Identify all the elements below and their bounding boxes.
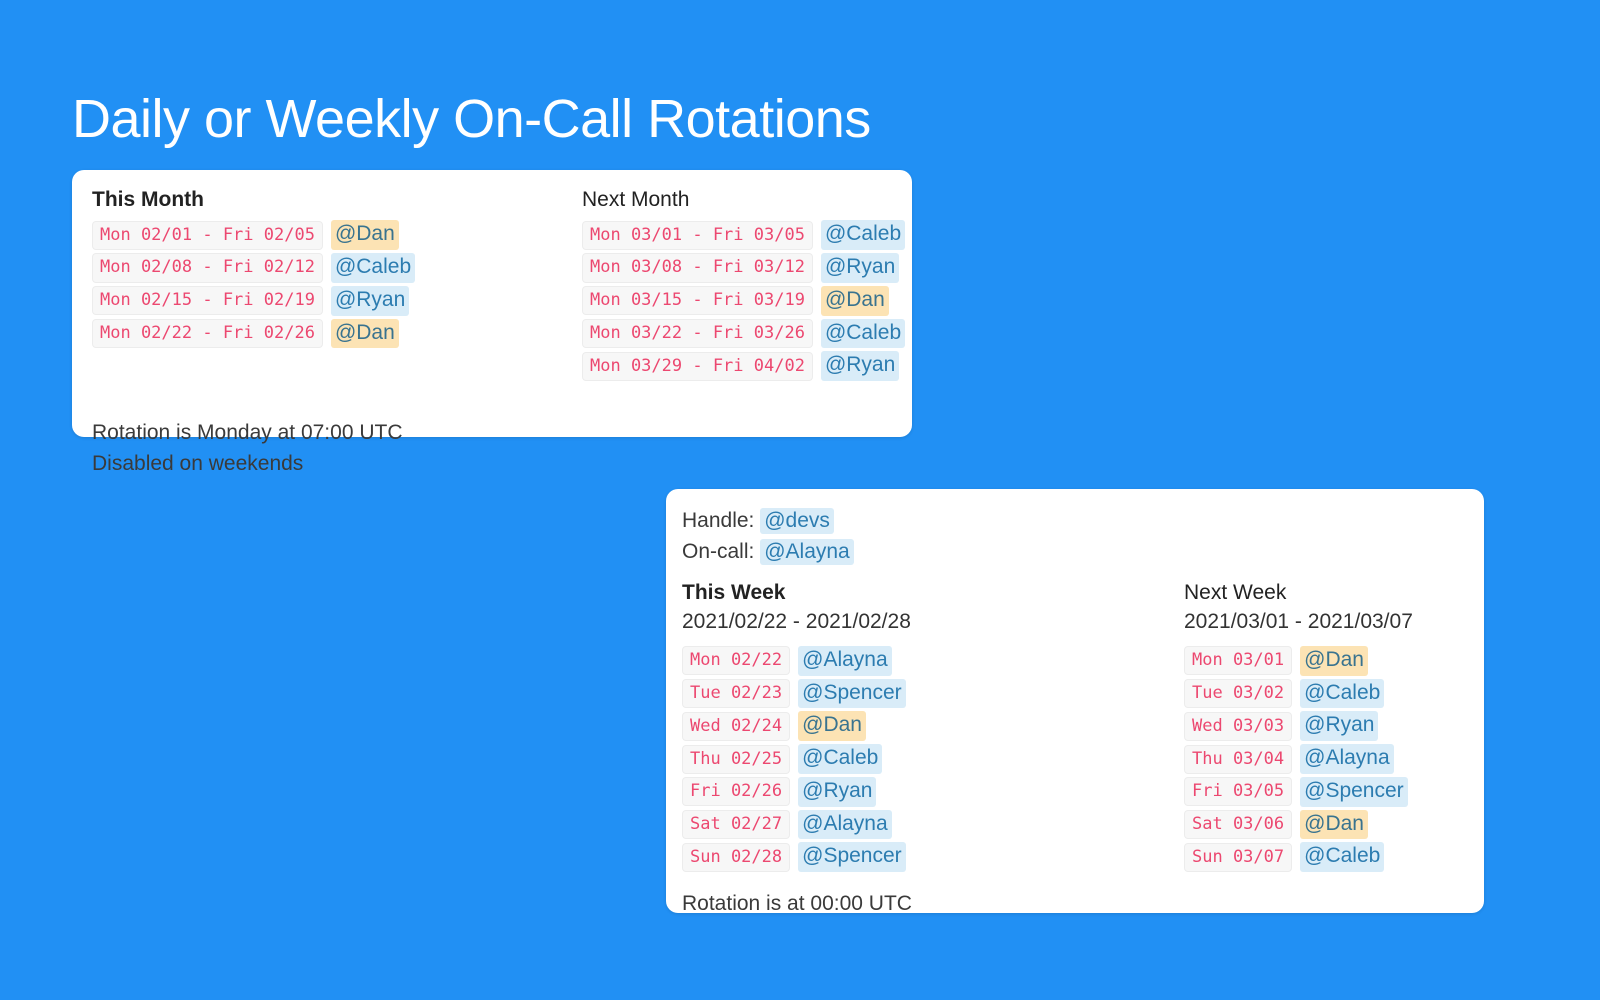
rotation-mention[interactable]: @Caleb xyxy=(821,220,905,250)
rotation-date: Thu 03/04 xyxy=(1184,745,1292,774)
rotation-date: Tue 03/02 xyxy=(1184,679,1292,708)
rotation-row: Mon 02/22 - Fri 02/26@Dan xyxy=(92,319,582,349)
next-week-column: Next Week 2021/03/01 - 2021/03/07 Mon 03… xyxy=(1184,579,1413,875)
weekly-footer: Rotation is at 00:00 UTC xyxy=(682,889,1466,919)
rotation-date: Mon 03/08 - Fri 03/12 xyxy=(582,253,813,282)
rotation-date: Sun 02/28 xyxy=(682,843,790,872)
rotation-mention[interactable]: @Caleb xyxy=(821,319,905,349)
rotation-mention[interactable]: @Dan xyxy=(1300,810,1368,840)
rotation-mention[interactable]: @Dan xyxy=(331,319,399,349)
next-week-rotation-list: Mon 03/01@DanTue 03/02@CalebWed 03/03@Ry… xyxy=(1184,646,1413,872)
this-week-header: This Week 2021/02/22 - 2021/02/28 xyxy=(682,579,1184,636)
rotation-row: Sat 02/27@Alayna xyxy=(682,810,1184,840)
monthly-footer: Rotation is Monday at 07:00 UTC Disabled… xyxy=(92,418,892,479)
monthly-rotation-note: Rotation is Monday at 07:00 UTC xyxy=(92,418,892,448)
rotation-row: Mon 03/08 - Fri 03/12@Ryan xyxy=(582,253,905,283)
rotation-date: Sat 03/06 xyxy=(1184,810,1292,839)
rotation-mention[interactable]: @Spencer xyxy=(798,679,906,709)
rotation-mention[interactable]: @Alayna xyxy=(798,646,892,676)
rotation-row: Sun 02/28@Spencer xyxy=(682,842,1184,872)
handle-row: Handle: @devs xyxy=(682,505,1466,536)
rotation-date: Mon 02/22 xyxy=(682,646,790,675)
rotation-date: Mon 03/15 - Fri 03/19 xyxy=(582,286,813,315)
rotation-mention[interactable]: @Caleb xyxy=(1300,842,1384,872)
this-month-heading: This Month xyxy=(92,186,582,214)
rotation-row: Mon 02/22@Alayna xyxy=(682,646,1184,676)
next-week-heading: Next Week xyxy=(1184,579,1413,607)
handle-mention[interactable]: @devs xyxy=(760,508,834,534)
rotation-date: Mon 03/22 - Fri 03/26 xyxy=(582,319,813,348)
rotation-mention[interactable]: @Dan xyxy=(1300,646,1368,676)
rotation-row: Fri 03/05@Spencer xyxy=(1184,777,1413,807)
oncall-mention[interactable]: @Alayna xyxy=(760,539,854,565)
rotation-row: Mon 03/22 - Fri 03/26@Caleb xyxy=(582,319,905,349)
rotation-date: Mon 03/29 - Fri 04/02 xyxy=(582,352,813,381)
rotation-row: Tue 03/02@Caleb xyxy=(1184,679,1413,709)
handle-label: Handle: xyxy=(682,509,754,532)
rotation-date: Sun 03/07 xyxy=(1184,843,1292,872)
monthly-weekend-note: Disabled on weekends xyxy=(92,449,892,479)
monthly-rotation-card: This Month Mon 02/01 - Fri 02/05@DanMon … xyxy=(72,170,912,437)
rotation-row: Sun 03/07@Caleb xyxy=(1184,842,1413,872)
monthly-columns: This Month Mon 02/01 - Fri 02/05@DanMon … xyxy=(92,186,892,384)
rotation-mention[interactable]: @Ryan xyxy=(331,286,409,316)
rotation-mention[interactable]: @Dan xyxy=(821,286,889,316)
rotation-date: Mon 03/01 - Fri 03/05 xyxy=(582,221,813,250)
rotation-date: Thu 02/25 xyxy=(682,745,790,774)
this-week-heading: This Week xyxy=(682,579,1184,607)
rotation-row: Mon 03/01@Dan xyxy=(1184,646,1413,676)
rotation-date: Fri 03/05 xyxy=(1184,777,1292,806)
rotation-date: Mon 02/01 - Fri 02/05 xyxy=(92,221,323,250)
rotation-date: Tue 02/23 xyxy=(682,679,790,708)
rotation-row: Mon 03/29 - Fri 04/02@Ryan xyxy=(582,351,905,381)
rotation-mention[interactable]: @Ryan xyxy=(821,351,899,381)
this-week-rotation-list: Mon 02/22@AlaynaTue 02/23@SpencerWed 02/… xyxy=(682,646,1184,872)
rotation-date: Mon 02/08 - Fri 02/12 xyxy=(92,253,323,282)
rotation-date: Wed 03/03 xyxy=(1184,712,1292,741)
rotation-mention[interactable]: @Alayna xyxy=(1300,744,1394,774)
next-month-column: Next Month Mon 03/01 - Fri 03/05@CalebMo… xyxy=(582,186,905,384)
this-week-range: 2021/02/22 - 2021/02/28 xyxy=(682,608,1184,636)
rotation-mention[interactable]: @Caleb xyxy=(798,744,882,774)
rotation-row: Mon 02/08 - Fri 02/12@Caleb xyxy=(92,253,582,283)
rotation-row: Mon 02/15 - Fri 02/19@Ryan xyxy=(92,286,582,316)
rotation-row: Thu 03/04@Alayna xyxy=(1184,744,1413,774)
rotation-row: Mon 03/15 - Fri 03/19@Dan xyxy=(582,286,905,316)
rotation-date: Sat 02/27 xyxy=(682,810,790,839)
rotation-row: Thu 02/25@Caleb xyxy=(682,744,1184,774)
rotation-mention[interactable]: @Ryan xyxy=(1300,711,1378,741)
rotation-mention[interactable]: @Ryan xyxy=(798,777,876,807)
next-week-range: 2021/03/01 - 2021/03/07 xyxy=(1184,608,1413,636)
rotation-mention[interactable]: @Dan xyxy=(331,220,399,250)
rotation-row: Fri 02/26@Ryan xyxy=(682,777,1184,807)
rotation-row: Tue 02/23@Spencer xyxy=(682,679,1184,709)
oncall-label: On-call: xyxy=(682,540,754,563)
page-title: Daily or Weekly On-Call Rotations xyxy=(72,88,871,150)
rotation-date: Mon 03/01 xyxy=(1184,646,1292,675)
rotation-date: Mon 02/15 - Fri 02/19 xyxy=(92,286,323,315)
weekly-rotation-card: Handle: @devs On-call: @Alayna This Week… xyxy=(666,489,1484,913)
this-month-rotation-list: Mon 02/01 - Fri 02/05@DanMon 02/08 - Fri… xyxy=(92,220,582,348)
rotation-row: Mon 02/01 - Fri 02/05@Dan xyxy=(92,220,582,250)
this-week-column: This Week 2021/02/22 - 2021/02/28 Mon 02… xyxy=(682,579,1184,875)
rotation-row: Mon 03/01 - Fri 03/05@Caleb xyxy=(582,220,905,250)
rotation-row: Wed 02/24@Dan xyxy=(682,711,1184,741)
weekly-columns: This Week 2021/02/22 - 2021/02/28 Mon 02… xyxy=(682,579,1466,875)
rotation-mention[interactable]: @Spencer xyxy=(798,842,906,872)
rotation-mention[interactable]: @Caleb xyxy=(1300,679,1384,709)
next-week-header: Next Week 2021/03/01 - 2021/03/07 xyxy=(1184,579,1413,636)
rotation-date: Fri 02/26 xyxy=(682,777,790,806)
rotation-row: Wed 03/03@Ryan xyxy=(1184,711,1413,741)
rotation-date: Wed 02/24 xyxy=(682,712,790,741)
weekly-header-block: Handle: @devs On-call: @Alayna xyxy=(682,505,1466,567)
weekly-rotation-note: Rotation is at 00:00 UTC xyxy=(682,889,1466,919)
rotation-mention[interactable]: @Ryan xyxy=(821,253,899,283)
this-month-column: This Month Mon 02/01 - Fri 02/05@DanMon … xyxy=(92,186,582,384)
rotation-mention[interactable]: @Spencer xyxy=(1300,777,1408,807)
next-month-heading: Next Month xyxy=(582,186,905,214)
rotation-date: Mon 02/22 - Fri 02/26 xyxy=(92,319,323,348)
rotation-mention[interactable]: @Caleb xyxy=(331,253,415,283)
next-month-rotation-list: Mon 03/01 - Fri 03/05@CalebMon 03/08 - F… xyxy=(582,220,905,381)
rotation-row: Sat 03/06@Dan xyxy=(1184,810,1413,840)
rotation-mention[interactable]: @Alayna xyxy=(798,810,892,840)
rotation-mention[interactable]: @Dan xyxy=(798,711,866,741)
oncall-row: On-call: @Alayna xyxy=(682,536,1466,567)
